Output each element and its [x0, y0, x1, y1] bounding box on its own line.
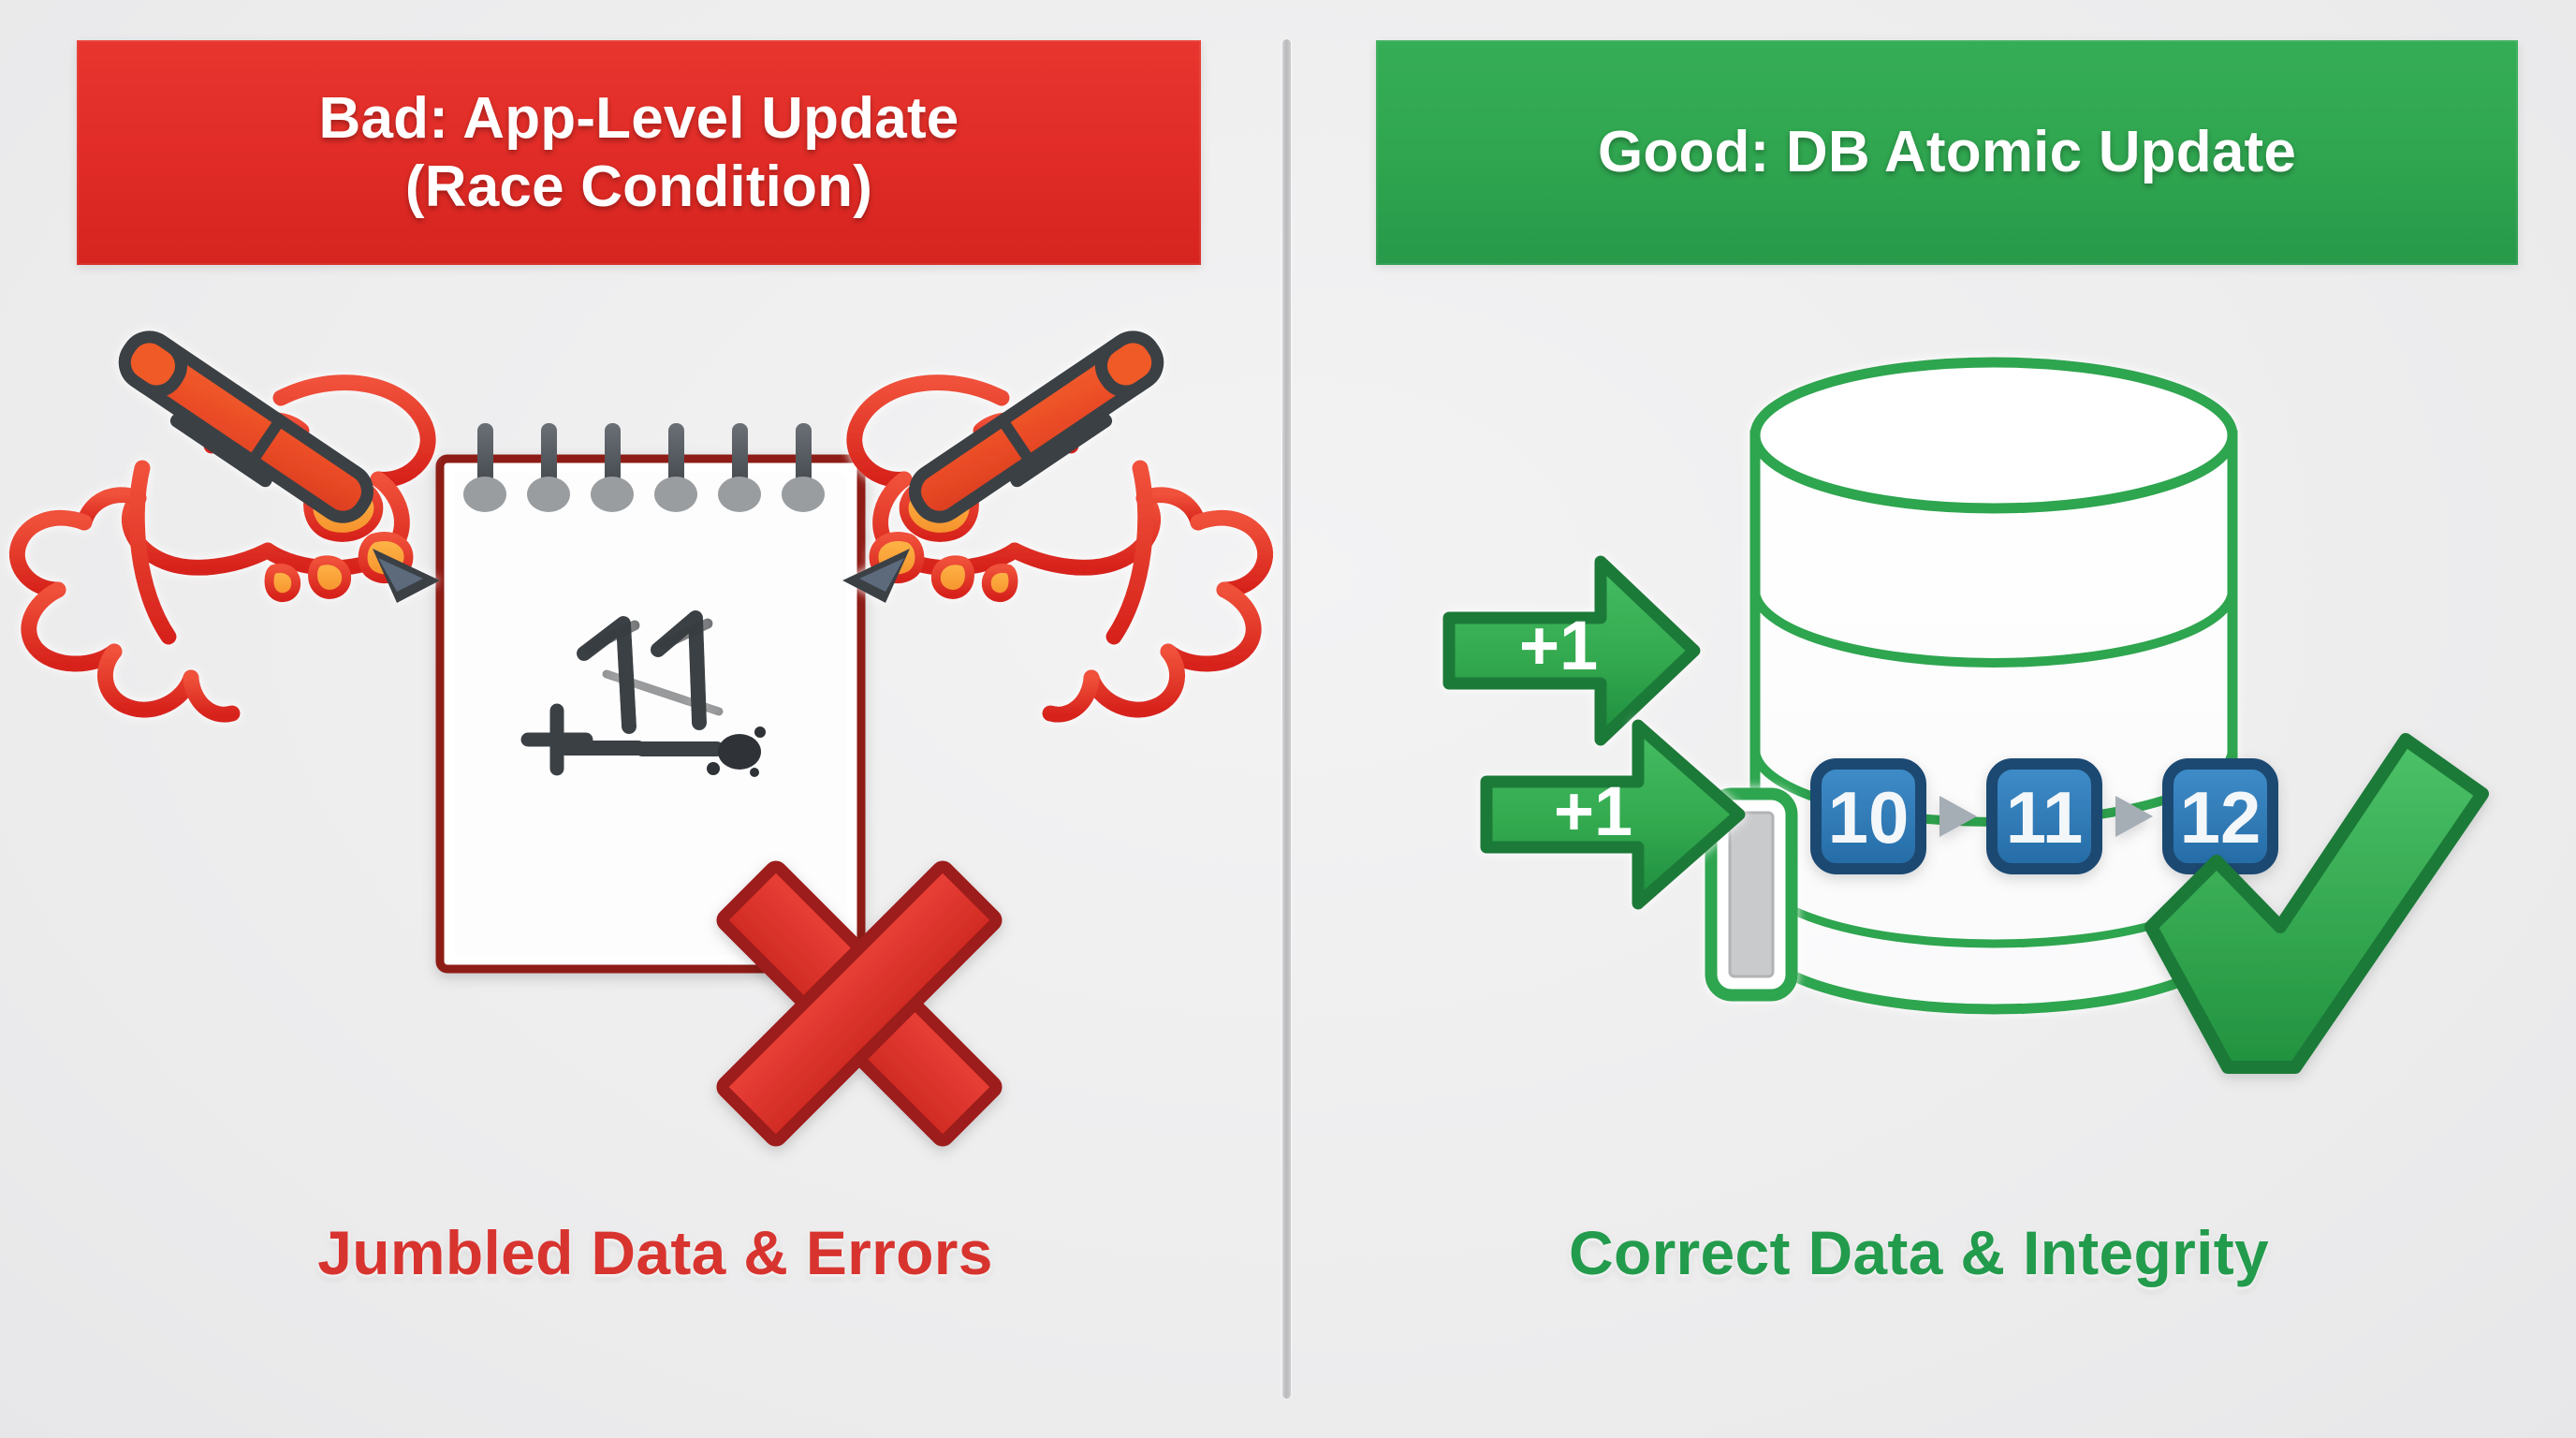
good-caption-label: Correct Data & Integrity	[1569, 1218, 2269, 1287]
good-banner-label: Good: DB Atomic Update	[1598, 118, 2296, 186]
counter-arrow-0	[1939, 796, 1977, 837]
hand-right	[842, 329, 1266, 715]
counter-box-11: 11	[1992, 764, 2097, 869]
counter-box-12: 12	[2168, 764, 2273, 869]
bad-banner-line2: (Race Condition)	[319, 153, 959, 221]
comparison-infographic: Bad: App-Level Update (Race Condition) G…	[0, 0, 2576, 1438]
good-caption: Correct Data & Integrity	[1310, 1217, 2527, 1288]
notepad	[440, 459, 861, 969]
pen-right	[842, 329, 1176, 603]
good-illustration: +1 +1 10 11 12	[1292, 281, 2576, 1217]
notepad-spiral-rings	[463, 423, 825, 512]
increment-arrow-1-label: +1	[1519, 607, 1598, 684]
bad-banner: Bad: App-Level Update (Race Condition)	[77, 40, 1201, 265]
pen-left	[107, 329, 440, 603]
hand-left	[17, 329, 440, 715]
panel-divider	[1282, 39, 1291, 1399]
counter-box-10: 10	[1816, 764, 1921, 869]
counter-value-2: 12	[2180, 776, 2261, 858]
database-cylinder	[1755, 362, 2232, 1009]
counter-sequence: 10 11 12	[1816, 764, 2273, 869]
row-lock-latch	[1711, 794, 1792, 995]
bad-caption: Jumbled Data & Errors	[47, 1217, 1264, 1288]
bad-caption-label: Jumbled Data & Errors	[317, 1218, 993, 1287]
good-banner: Good: DB Atomic Update	[1376, 40, 2518, 265]
cross-mark-icon	[713, 856, 1005, 1152]
ink-blot	[707, 726, 766, 777]
increment-arrow-2-label: +1	[1554, 772, 1632, 850]
counter-arrow-1	[2115, 796, 2153, 837]
bad-banner-line1: Bad: App-Level Update	[319, 84, 959, 153]
counter-value-1: 11	[2006, 776, 2083, 858]
increment-arrow-2: +1	[1486, 726, 1739, 903]
increment-arrow-1: +1	[1449, 562, 1694, 740]
scribbled-value	[528, 618, 719, 769]
counter-value-0: 10	[1828, 776, 1910, 858]
bad-illustration	[0, 281, 1282, 1217]
check-mark-icon	[2151, 740, 2482, 1067]
